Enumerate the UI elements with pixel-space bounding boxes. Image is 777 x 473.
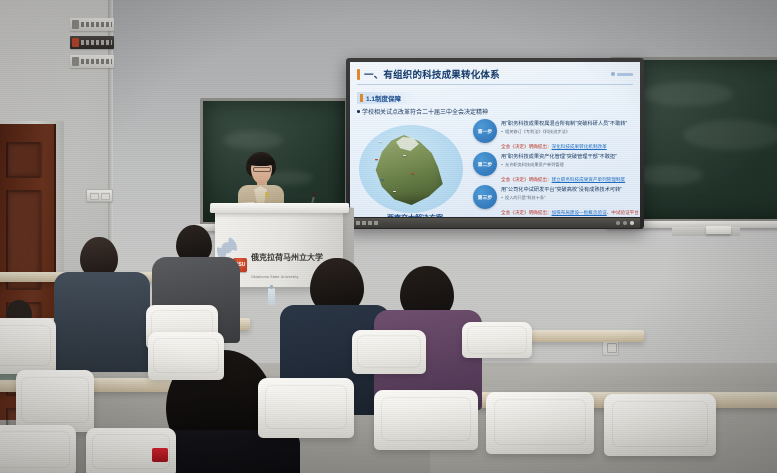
presentation-slide: 一、有组织的科技成果转化体系 1.1制度保障 学校相关试点改革符合二十届三中全会…	[350, 62, 640, 217]
chalkboard-eraser[interactable]	[706, 226, 731, 234]
chair-back[interactable]	[148, 332, 224, 380]
slide-title: 一、有组织的科技成果转化体系	[364, 67, 500, 81]
display-screen: 一、有组织的科技成果转化体系 1.1制度保障 学校相关试点改革符合二十届三中全会…	[350, 62, 640, 217]
plaque-icon	[72, 38, 79, 47]
chair-back[interactable]	[0, 425, 76, 473]
illustration-tag	[375, 159, 378, 160]
step-heading: 用“职务科技成果资产化管理”突破管理干部“不敢担”	[501, 154, 633, 161]
step-badge: 第二步	[473, 152, 497, 176]
watermark-bar-icon	[617, 73, 633, 76]
chair-back[interactable]	[0, 318, 56, 374]
door-panel	[6, 142, 42, 178]
podium-brand-cn: 俄克拉荷马州立大学	[251, 253, 323, 262]
power-button-icon[interactable]	[616, 221, 620, 225]
wall-light-switch[interactable]	[86, 189, 113, 202]
display-bezel	[350, 218, 640, 228]
slide-watermark	[611, 72, 633, 76]
step-subtext: 投入的只是“科技十条”	[501, 195, 633, 201]
step-text: 用“公司化中试研发平台”突破高校“没有成熟技术可转” 投入的只是“科技十条”	[501, 185, 633, 201]
step-text: 用“职务科技成果权属混合所有制”突破科研人员“不敢转” 相关修订《专利法》《科技…	[501, 119, 633, 135]
step-note: 全会《决定》明确提出：深化科技成果转化机制改革	[501, 144, 633, 150]
step-subtext: 允许职务科技成果资产单列管理	[501, 162, 633, 168]
step-badge: 第三步	[473, 185, 497, 209]
podium-branding: OSU 俄克拉荷马州立大学 Oklahoma State University	[233, 247, 323, 283]
wall-plaque-top	[70, 18, 114, 31]
chair-back[interactable]	[462, 322, 532, 358]
plaque-text	[81, 22, 112, 27]
chair-back[interactable]	[352, 330, 426, 374]
classroom-photo: 一、有组织的科技成果转化体系 1.1制度保障 学校相关试点改革符合二十届三中全会…	[0, 0, 777, 473]
step-heading: 用“职务科技成果权属混合所有制”突破科研人员“不敢转”	[501, 121, 633, 128]
eyeglasses-icon	[253, 167, 271, 172]
step-note: 全会《决定》明确提出：加快布局建设一批概念验证、中试验证平台	[501, 210, 633, 216]
slide-bullet-main: 学校相关试点改革符合二十届三中全会决定精神	[357, 107, 633, 116]
slide-step: 第一步 用“职务科技成果权属混合所有制”突破科研人员“不敢转” 相关修订《专利法…	[473, 119, 633, 143]
podium-brand-en: Oklahoma State University	[251, 275, 299, 279]
slide-step: 第三步 用“公司化中试研发平台”突破高校“没有成熟技术可转” 投入的只是“科技十…	[473, 185, 633, 209]
presenter-fringe	[247, 155, 275, 166]
step-subtext: 相关修订《专利法》《科技进步法》	[501, 129, 633, 135]
chair-back[interactable]	[374, 390, 478, 450]
step-heading: 用“公司化中试研发平台”突破高校“没有成熟技术可转”	[501, 187, 633, 194]
plaque-text	[81, 40, 112, 45]
slide-step: 第二步 用“职务科技成果资产化管理”突破管理干部“不敢担” 允许职务科技成果资产…	[473, 152, 633, 176]
illustration-tag	[393, 191, 396, 192]
display-buttons[interactable]	[616, 221, 634, 225]
section-label-text: 1.1制度保障	[366, 93, 401, 103]
chair-back[interactable]	[16, 370, 94, 432]
step-note-tail: 、中试验证平台	[607, 210, 639, 215]
illustration-tag	[379, 141, 382, 142]
watermark-dot-icon	[611, 72, 615, 76]
presentation-display[interactable]: 一、有组织的科技成果转化体系 1.1制度保障 学校相关试点改革符合二十届三中全会…	[346, 58, 644, 229]
wall-plaque-middle	[70, 36, 114, 49]
slide-illustration: 西南交大解决方案	[359, 121, 469, 217]
step-text: 用“职务科技成果资产化管理”突破管理干部“不敢担” 允许职务科技成果资产单列管理	[501, 152, 633, 168]
step-note-prefix: 全会《决定》明确提出：	[501, 144, 552, 149]
display-brand-logo	[356, 221, 380, 225]
step-note-prefix: 全会《决定》明确提出：	[501, 210, 552, 215]
chair-back[interactable]	[604, 394, 716, 456]
step-note-link: 加快布局建设一批概念验证	[552, 210, 607, 215]
step-note-link: 建立职务科技成果资产单列管理制度	[552, 177, 626, 182]
chair-back[interactable]	[486, 392, 594, 454]
slide-section-label: 1.1制度保障	[357, 92, 417, 104]
illustration-tag	[381, 179, 384, 180]
presenter-badge	[265, 192, 269, 198]
plaque-text	[81, 59, 112, 64]
water-bottle[interactable]	[268, 288, 275, 305]
menu-button-icon[interactable]	[623, 221, 627, 225]
illustration-caption: 西南交大解决方案	[365, 213, 465, 217]
plaque-icon	[72, 57, 79, 66]
section-accent-icon	[360, 94, 363, 102]
slide-steps: 第一步 用“职务科技成果权属混合所有制”突破科研人员“不敢转” 相关修订《专利法…	[473, 119, 633, 217]
illustration-tag	[411, 173, 414, 174]
red-item-on-desk[interactable]	[152, 448, 168, 462]
slide-title-bar: 一、有组织的科技成果转化体系	[357, 67, 633, 85]
step-badge: 第一步	[473, 119, 497, 143]
step-note-link: 深化科技成果转化机制改革	[552, 144, 607, 149]
plaque-icon	[72, 20, 79, 29]
slide-body: 西南交大解决方案 第一步 用“职务科技成果权属混合所有制”突破科研人员“不敢转”…	[357, 119, 633, 217]
wall-plaque-bottom	[70, 55, 114, 68]
attendee-torso	[54, 272, 150, 372]
chair-back[interactable]	[258, 378, 354, 438]
slide-bullet-text: 学校相关试点改革符合二十届三中全会决定精神	[362, 110, 488, 116]
step-note-prefix: 全会《决定》明确提出：	[501, 177, 552, 182]
title-accent-bar	[357, 69, 360, 80]
podium-surface	[210, 203, 349, 213]
source-button-icon[interactable]	[630, 221, 634, 225]
step-note: 全会《决定》明确提出：建立职务科技成果资产单列管理制度	[501, 177, 633, 183]
illustration-tag	[403, 155, 406, 156]
